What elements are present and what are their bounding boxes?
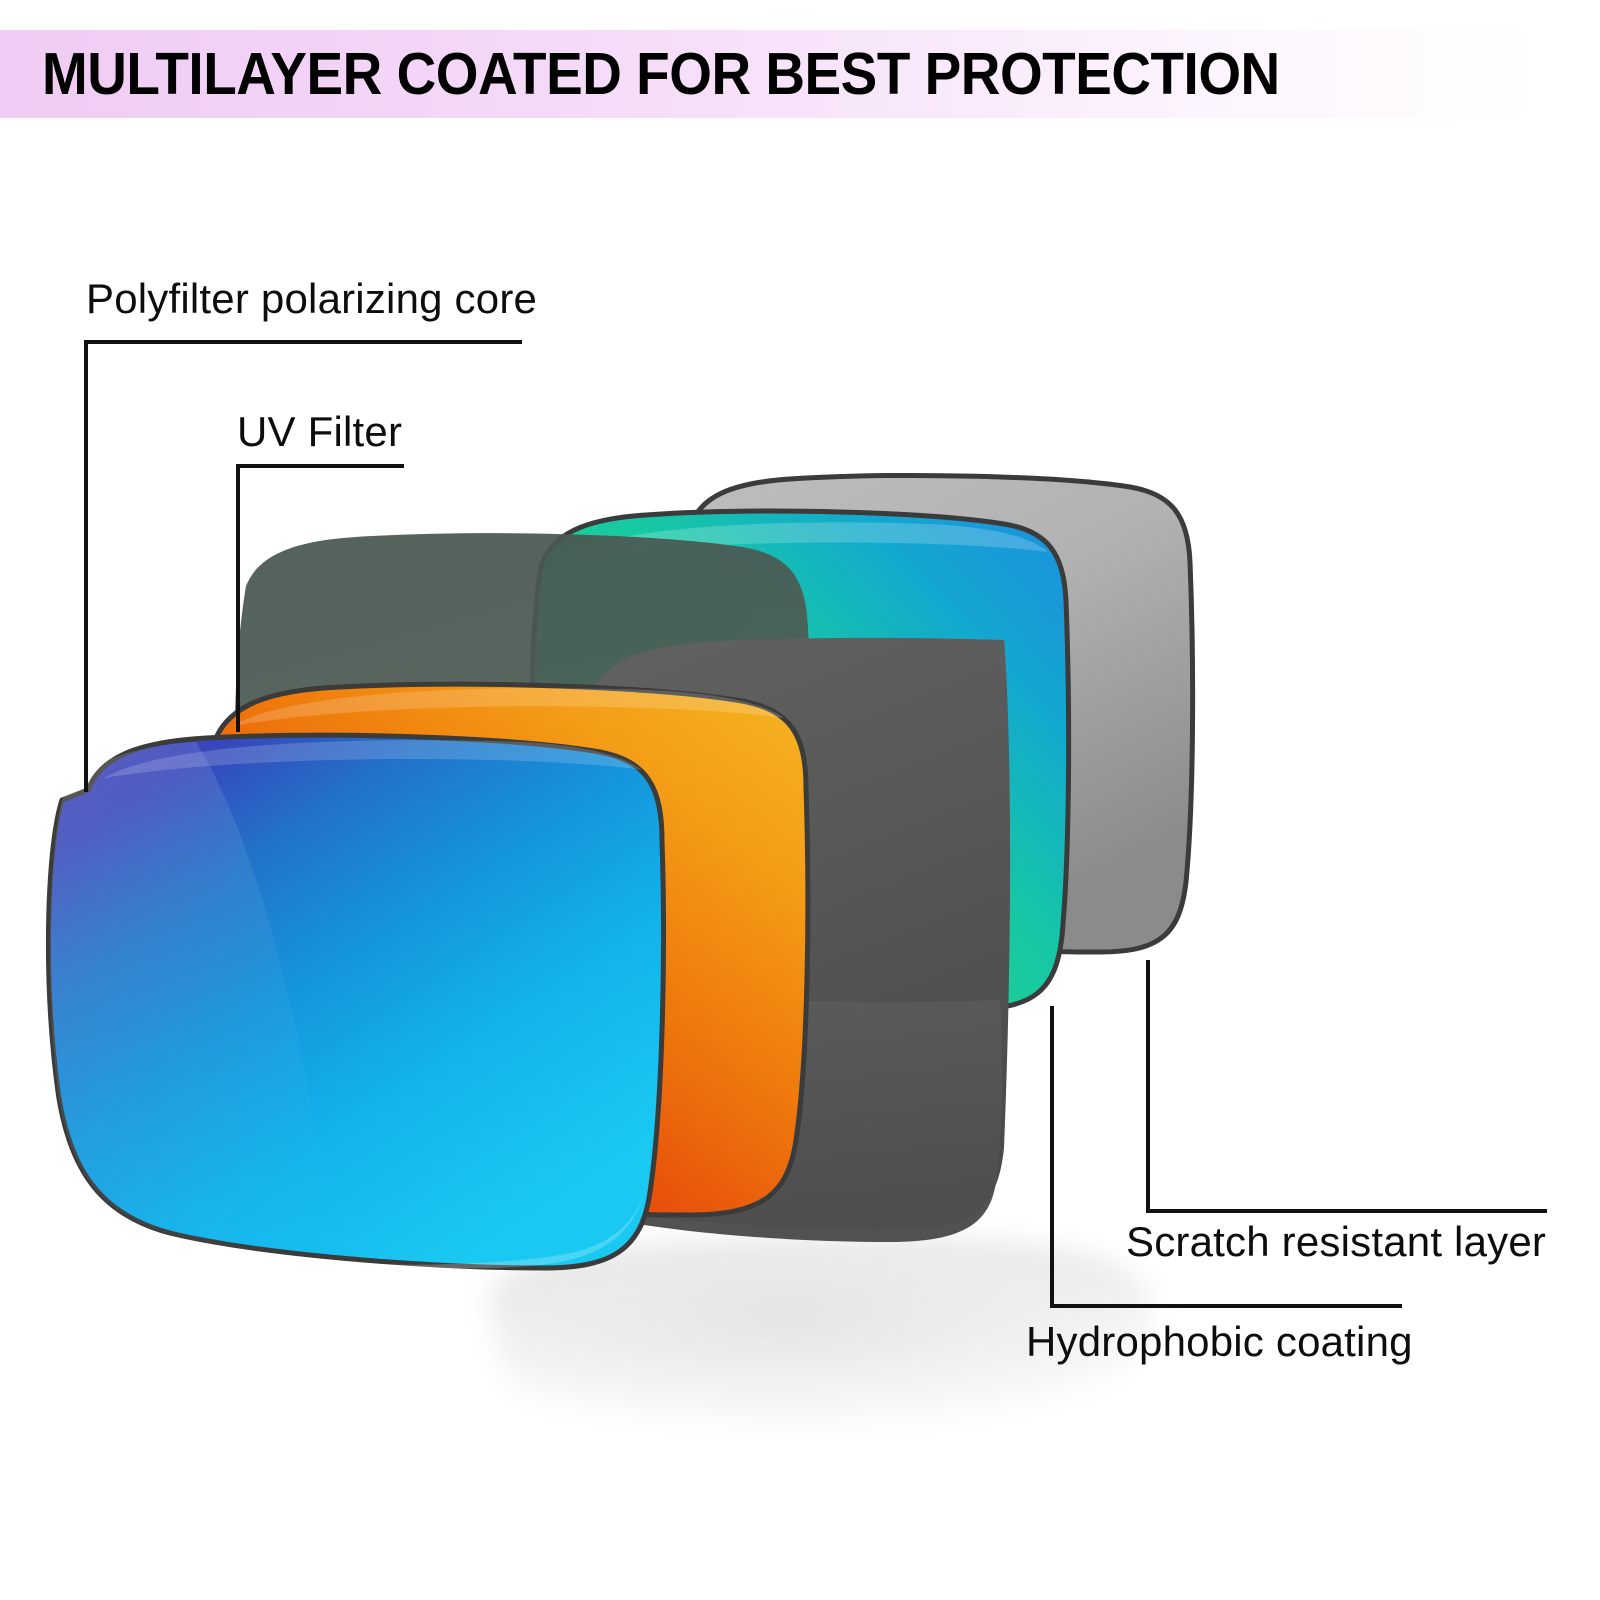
leader-line-scratch-resistant bbox=[1148, 962, 1545, 1211]
callout-label-hydrophobic-coating: Hydrophobic coating bbox=[1026, 1318, 1413, 1366]
callout-label-scratch-resistant-layer: Scratch resistant layer bbox=[1126, 1218, 1546, 1266]
callout-label-uv-filter: UV Filter bbox=[237, 408, 402, 456]
diagram-canvas: MULTILAYER COATED FOR BEST PROTECTION bbox=[0, 0, 1600, 1600]
lens-layer-polarizing-core-blue bbox=[48, 735, 663, 1268]
callout-label-polyfilter-polarizing-core: Polyfilter polarizing core bbox=[86, 275, 537, 323]
